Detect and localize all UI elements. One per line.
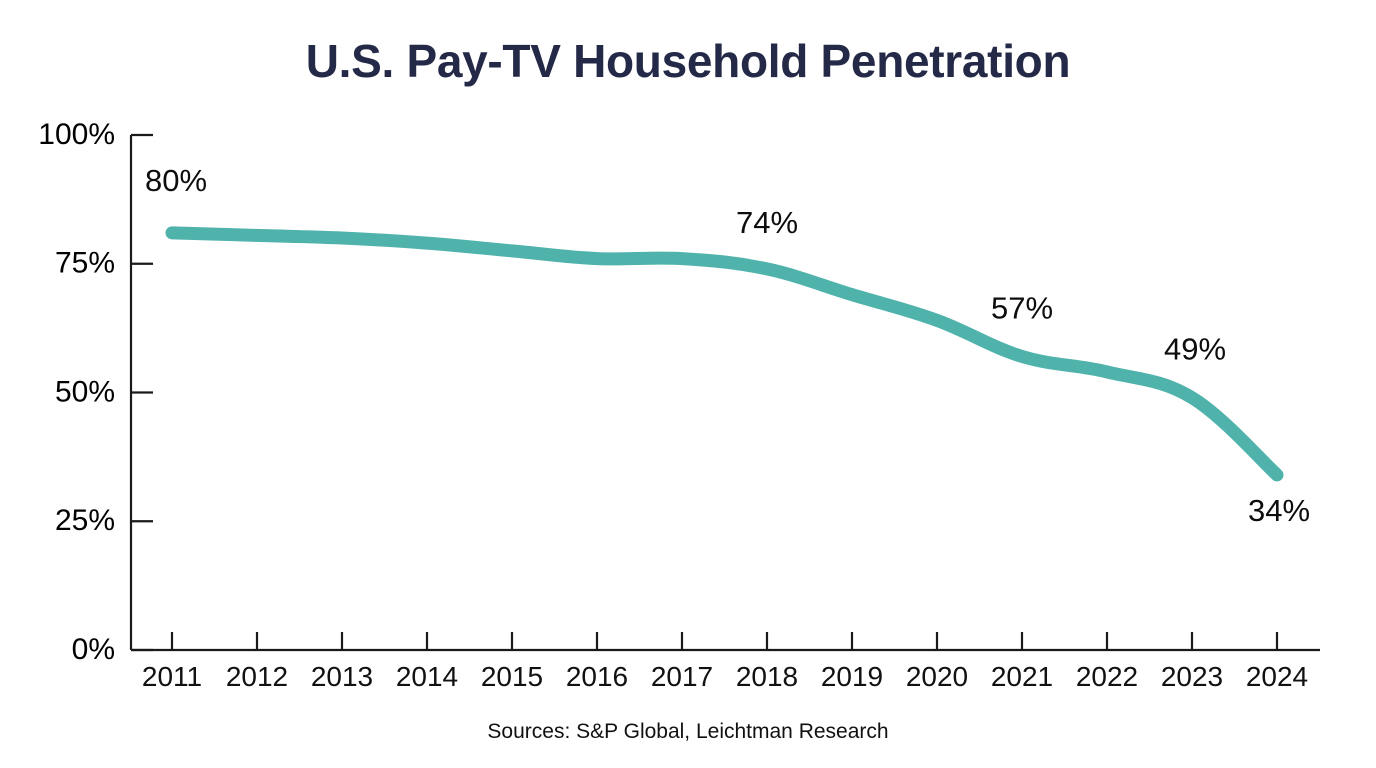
line-chart-plot: 0%25%50%75%100% 201120122013201420152016… bbox=[0, 0, 1376, 768]
y-axis-tick-label: 25% bbox=[55, 504, 115, 537]
source-note: Sources: S&P Global, Leichtman Research bbox=[0, 720, 1376, 744]
x-axis-tick-label: 2012 bbox=[226, 661, 288, 692]
data-point-label: 57% bbox=[991, 290, 1053, 325]
x-axis: 2011201220132014201520162017201820192020… bbox=[131, 632, 1320, 692]
data-point-labels: 80%74%57%49%34% bbox=[145, 163, 1310, 528]
x-axis-tick-label: 2021 bbox=[991, 661, 1053, 692]
data-point-label: 74% bbox=[736, 205, 798, 240]
x-axis-tick-label: 2015 bbox=[481, 661, 543, 692]
chart-container: U.S. Pay-TV Household Penetration 0%25%5… bbox=[0, 0, 1376, 768]
data-point-label: 49% bbox=[1164, 332, 1226, 367]
series-line-penetration bbox=[172, 233, 1277, 475]
x-axis-tick-label: 2017 bbox=[651, 661, 713, 692]
y-axis-tick-label: 75% bbox=[55, 247, 115, 280]
x-axis-tick-label: 2014 bbox=[396, 661, 458, 692]
x-axis-tick-label: 2011 bbox=[142, 661, 202, 692]
x-axis-tick-label: 2016 bbox=[566, 661, 628, 692]
x-axis-tick-label: 2013 bbox=[311, 661, 373, 692]
x-axis-tick-label: 2020 bbox=[906, 661, 968, 692]
data-point-label: 34% bbox=[1248, 493, 1310, 528]
x-axis-tick-label: 2022 bbox=[1076, 661, 1138, 692]
y-axis-tick-label: 100% bbox=[38, 118, 115, 151]
y-axis-tick-label: 50% bbox=[55, 375, 115, 408]
x-axis-tick-label: 2019 bbox=[821, 661, 883, 692]
x-axis-tick-label: 2024 bbox=[1246, 661, 1308, 692]
data-series-penetration bbox=[172, 233, 1277, 475]
x-axis-tick-label: 2018 bbox=[736, 661, 798, 692]
y-axis-tick-label: 0% bbox=[72, 633, 115, 666]
y-axis: 0%25%50%75%100% bbox=[38, 118, 153, 666]
x-axis-tick-label: 2023 bbox=[1161, 661, 1223, 692]
data-point-label: 80% bbox=[145, 163, 207, 198]
